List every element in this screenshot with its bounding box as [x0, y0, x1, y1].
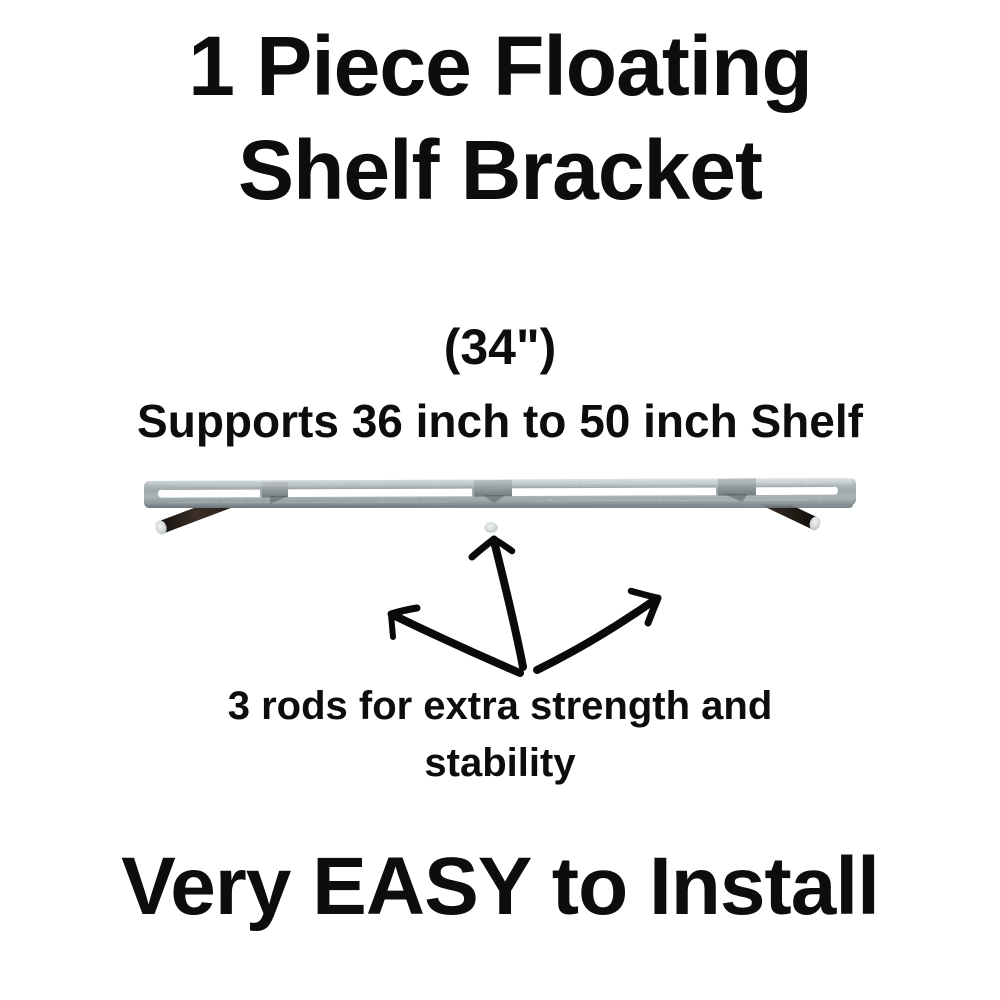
- arrow-left-rod: [391, 608, 520, 673]
- product-infographic: 1 Piece Floating Shelf Bracket (34") Sup…: [0, 0, 1000, 1000]
- bottom-banner-text: Very EASY to Install: [0, 846, 1000, 928]
- annotation-arrows: [360, 515, 690, 680]
- arrow-center-rod: [472, 539, 523, 667]
- size-label: (34"): [0, 322, 1000, 372]
- bracket-bar: [144, 478, 856, 508]
- rods-caption: 3 rods for extra strength and stability: [150, 678, 850, 792]
- page-title: 1 Piece Floating Shelf Bracket: [0, 14, 1000, 222]
- supports-label: Supports 36 inch to 50 inch Shelf: [0, 398, 1000, 444]
- arrow-right-rod: [537, 591, 658, 670]
